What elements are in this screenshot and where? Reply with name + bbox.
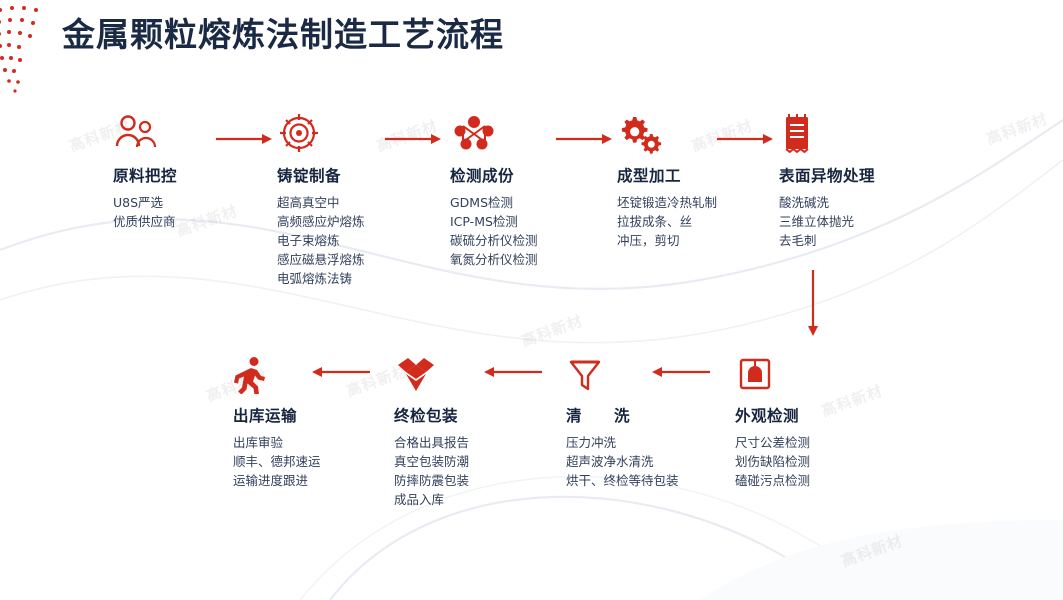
- step-heading: 清 洗: [566, 404, 684, 426]
- gear-target-icon: [277, 112, 365, 154]
- gears-icon: [617, 112, 717, 154]
- step-outbound-transport: 出库运输 出库审验 顺丰、德邦速运 运输进度跟进: [233, 352, 321, 490]
- people-icon: [113, 112, 177, 154]
- step-heading: 铸锭制备: [277, 164, 365, 186]
- step-line: 成品入库: [394, 490, 469, 509]
- step-heading: 终检包装: [394, 404, 469, 426]
- step-heading: 成型加工: [617, 164, 717, 186]
- step-line: 氧氮分析仪检测: [450, 250, 538, 269]
- step-line: U8S严选: [113, 193, 177, 212]
- step-heading: 检测成份: [450, 164, 538, 186]
- watermark: 高科新材: [518, 310, 585, 352]
- step-line: 防摔防震包装: [394, 471, 469, 490]
- step-forming-processing: 成型加工 坯锭锻造冷热轧制 拉拔成条、丝 冲压，剪切: [617, 112, 717, 250]
- step-line: 超高真空中: [277, 193, 365, 212]
- step-line: 电子束熔炼: [277, 231, 365, 250]
- step-lines: GDMS检测 ICP-MS检测 碳硫分析仪检测 氧氮分析仪检测: [450, 193, 538, 269]
- step-line: 拉拔成条、丝: [617, 212, 717, 231]
- open-box-icon: [394, 352, 469, 394]
- step-line: 超声波净水清洗: [566, 452, 684, 471]
- step-lines: 坯锭锻造冷热轧制 拉拔成条、丝 冲压，剪切: [617, 193, 717, 250]
- step-ingot-preparation: 铸锭制备 超高真空中 高频感应炉熔炼 电子束熔炼 感应磁悬浮熔炼 电弧熔炼法铸: [277, 112, 365, 288]
- molecule-icon: [450, 112, 538, 154]
- step-lines: 酸洗碱洗 三维立体抛光 去毛刺: [779, 193, 875, 250]
- step-line: 感应磁悬浮熔炼: [277, 250, 365, 269]
- step-final-inspection-packaging: 终检包装 合格出具报告 真空包装防潮 防摔防震包装 成品入库: [394, 352, 469, 509]
- step-line: 坯锭锻造冷热轧制: [617, 193, 717, 212]
- document-lines-icon: [779, 112, 875, 154]
- step-line: 真空包装防潮: [394, 452, 469, 471]
- inspection-icon: [735, 352, 810, 394]
- arrow-3-to-4: [556, 132, 614, 146]
- step-line: 优质供应商: [113, 212, 177, 231]
- step-lines: 压力冲洗 超声波净水清洗 烘干、终检等待包装: [566, 433, 684, 490]
- step-line: 磕碰污点检测: [735, 471, 810, 490]
- step-line: 去毛刺: [779, 231, 875, 250]
- arrow-2-to-3: [385, 132, 443, 146]
- step-line: 烘干、终检等待包装: [566, 471, 684, 490]
- step-line: 冲压，剪切: [617, 231, 717, 250]
- step-lines: 超高真空中 高频感应炉熔炼 电子束熔炼 感应磁悬浮熔炼 电弧熔炼法铸: [277, 193, 365, 288]
- step-cleaning: 清 洗 压力冲洗 超声波净水清洗 烘干、终检等待包装: [566, 352, 684, 490]
- page-title: 金属颗粒熔炼法制造工艺流程: [62, 8, 504, 56]
- step-line: 压力冲洗: [566, 433, 684, 452]
- step-appearance-inspection: 外观检测 尺寸公差检测 划伤缺陷检测 磕碰污点检测: [735, 352, 810, 490]
- watermark: 高科新材: [983, 108, 1050, 150]
- step-line: GDMS检测: [450, 193, 538, 212]
- step-line: 尺寸公差检测: [735, 433, 810, 452]
- step-raw-material-control: 原料把控 U8S严选 优质供应商: [113, 112, 177, 231]
- step-lines: U8S严选 优质供应商: [113, 193, 177, 231]
- background-swoosh: [0, 0, 1063, 600]
- running-person-icon: [233, 352, 321, 394]
- step-lines: 尺寸公差检测 划伤缺陷检测 磕碰污点检测: [735, 433, 810, 490]
- step-heading: 出库运输: [233, 404, 321, 426]
- step-line: 运输进度跟进: [233, 471, 321, 490]
- step-line: 三维立体抛光: [779, 212, 875, 231]
- step-line: 合格出具报告: [394, 433, 469, 452]
- step-line: 顺丰、德邦速运: [233, 452, 321, 471]
- step-line: 划伤缺陷检测: [735, 452, 810, 471]
- step-heading: 表面异物处理: [779, 164, 875, 186]
- arrow-4-to-5: [717, 132, 775, 146]
- step-composition-inspection: 检测成份 GDMS检测 ICP-MS检测 碳硫分析仪检测 氧氮分析仪检测: [450, 112, 538, 269]
- arrow-7-to-8: [480, 365, 542, 379]
- watermark: 高科新材: [173, 200, 240, 242]
- watermark: 高科新材: [818, 380, 885, 422]
- step-line: 碳硫分析仪检测: [450, 231, 538, 250]
- step-line: 出库审验: [233, 433, 321, 452]
- arrow-5-to-6-down: [805, 270, 821, 338]
- step-line: ICP-MS检测: [450, 212, 538, 231]
- step-lines: 出库审验 顺丰、德邦速运 运输进度跟进: [233, 433, 321, 490]
- step-line: 酸洗碱洗: [779, 193, 875, 212]
- arrow-1-to-2: [216, 132, 274, 146]
- step-heading: 原料把控: [113, 164, 177, 186]
- step-heading: 外观检测: [735, 404, 810, 426]
- step-line: 电弧熔炼法铸: [277, 269, 365, 288]
- step-lines: 合格出具报告 真空包装防潮 防摔防震包装 成品入库: [394, 433, 469, 509]
- watermark: 高科新材: [838, 530, 905, 572]
- step-surface-foreign-treatment: 表面异物处理 酸洗碱洗 三维立体抛光 去毛刺: [779, 112, 875, 250]
- step-line: 高频感应炉熔炼: [277, 212, 365, 231]
- funnel-icon: [566, 352, 684, 394]
